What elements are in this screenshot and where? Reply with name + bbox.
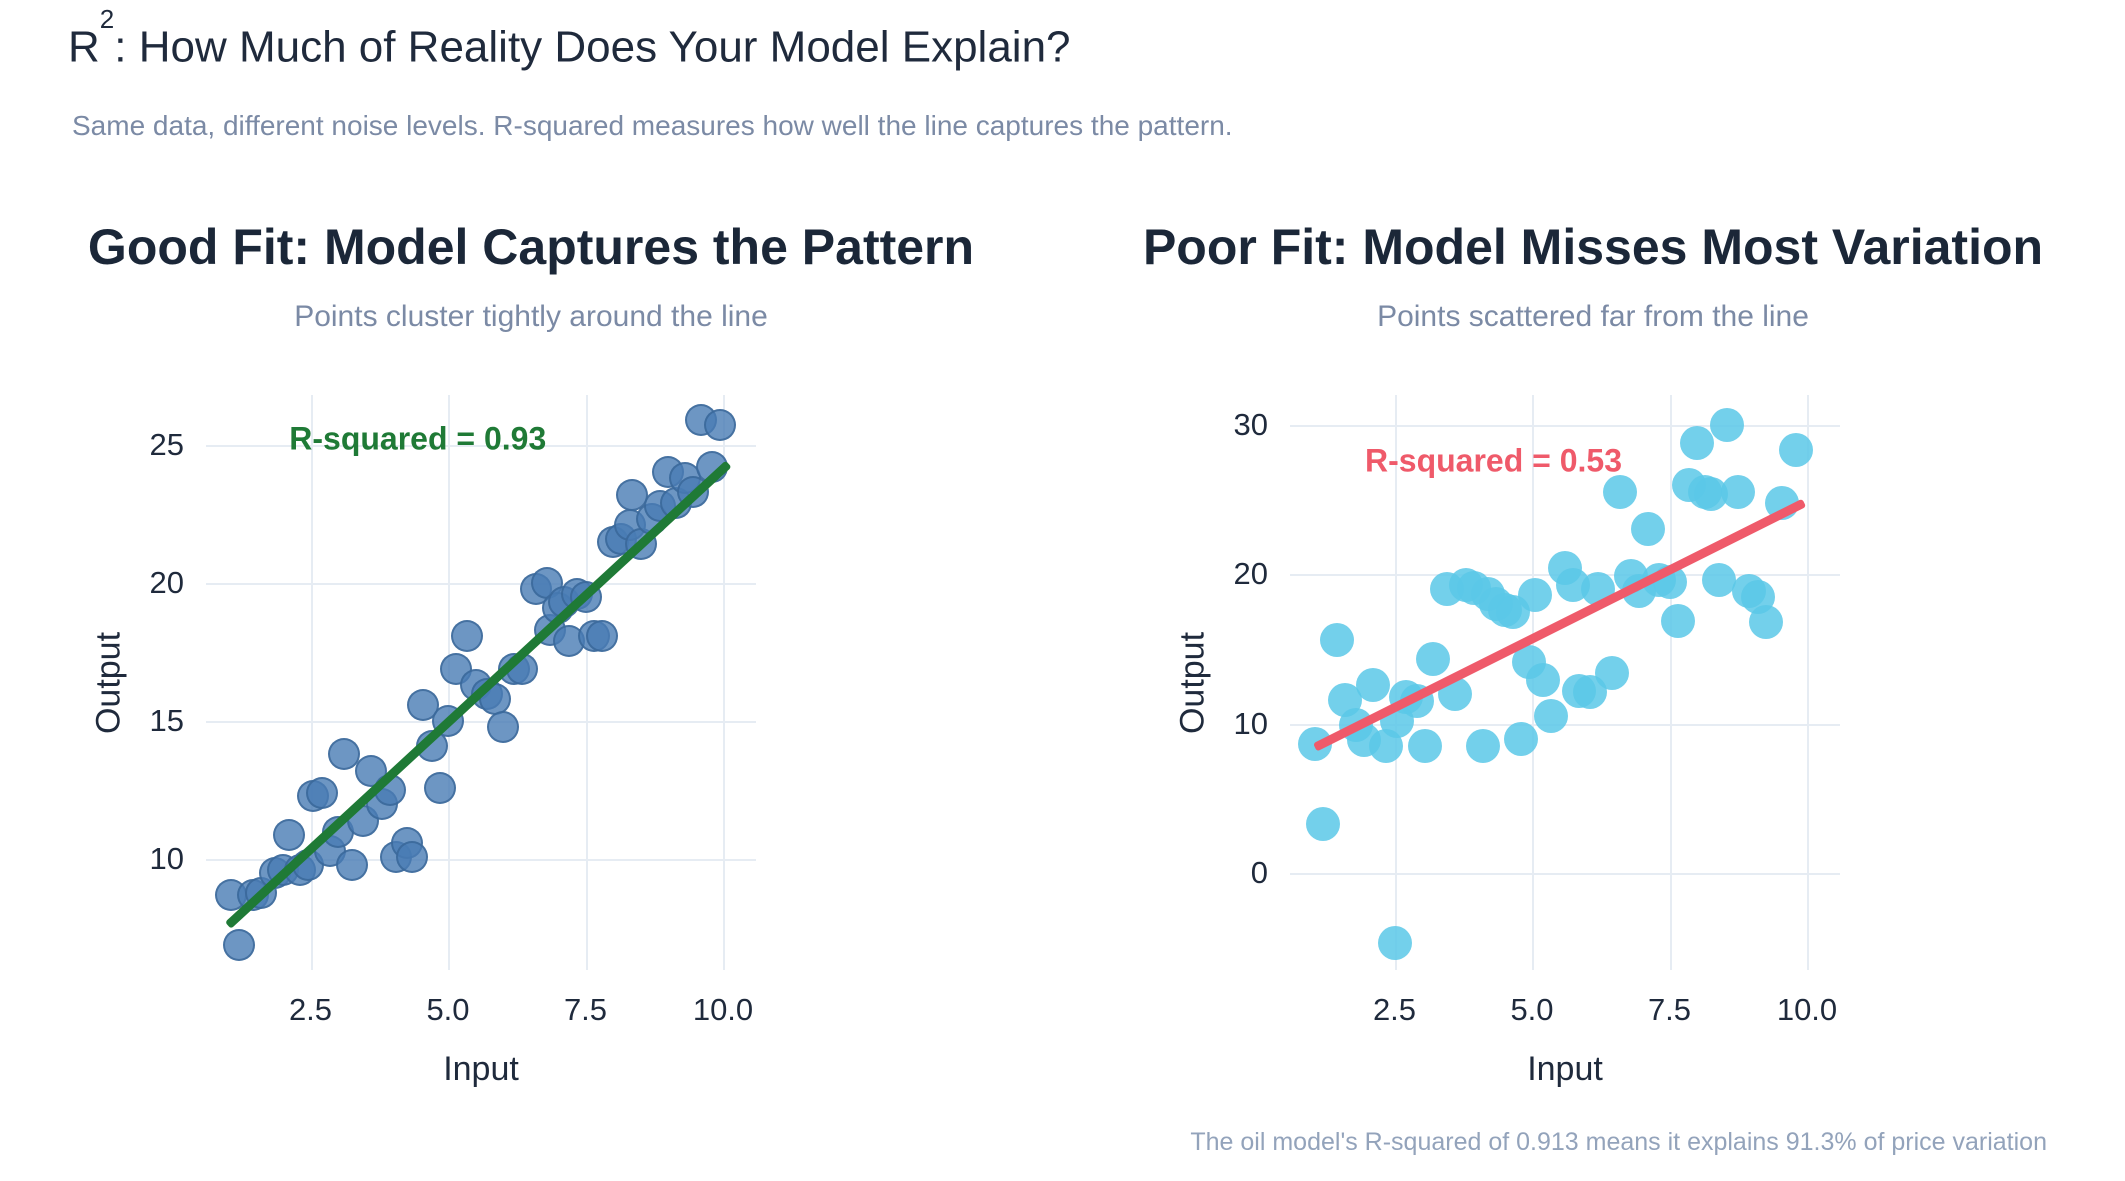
scatter-point xyxy=(704,409,736,441)
scatter-point xyxy=(1320,623,1354,657)
scatter-point xyxy=(1721,475,1755,509)
x-axis-tick-label: 7.5 xyxy=(564,992,607,1028)
scatter-point xyxy=(451,620,483,652)
scatter-point xyxy=(1518,578,1552,612)
panel-title-good-fit: Good Fit: Model Captures the Pattern xyxy=(0,222,1062,272)
scatter-point xyxy=(1680,426,1714,460)
x-axis-tick-label: 5.0 xyxy=(1510,992,1553,1028)
scatter-point xyxy=(1595,656,1629,690)
y-axis-tick-label: 15 xyxy=(150,703,184,739)
x-axis-tick-label: 5.0 xyxy=(426,992,469,1028)
scatter-point xyxy=(1356,668,1390,702)
chart-panel-poor-fit: Poor Fit: Model Misses Most Variation Po… xyxy=(1062,0,2124,1181)
r-squared-annotation: R-squared = 0.53 xyxy=(1365,442,1622,479)
footnote-caption: The oil model's R-squared of 0.913 means… xyxy=(1190,1128,2047,1157)
gridline-horizontal xyxy=(1290,873,1840,875)
x-axis-tick-label: 2.5 xyxy=(289,992,332,1028)
scatter-plot-good-fit: Output Input 101520252.55.07.510.0R-squa… xyxy=(206,395,756,970)
scatter-point xyxy=(487,711,519,743)
scatter-point xyxy=(1416,642,1450,676)
gridline-vertical xyxy=(723,395,725,970)
x-axis-tick-label: 10.0 xyxy=(1777,992,1837,1028)
x-axis-tick-label: 2.5 xyxy=(1373,992,1416,1028)
scatter-plot-poor-fit: Output Input 01020302.55.07.510.0R-squar… xyxy=(1290,395,1840,970)
scatter-point xyxy=(336,849,368,881)
gridline-horizontal xyxy=(206,583,756,585)
scatter-point xyxy=(1526,663,1560,697)
y-axis-tick-label: 25 xyxy=(150,427,184,463)
x-axis-title-poor-fit: Input xyxy=(1527,1050,1603,1089)
y-axis-title-good-fit: Output xyxy=(90,631,129,733)
scatter-point xyxy=(586,620,618,652)
y-axis-tick-label: 20 xyxy=(150,565,184,601)
x-axis-tick-label: 7.5 xyxy=(1648,992,1691,1028)
scatter-point xyxy=(1661,604,1695,638)
gridline-vertical xyxy=(586,395,588,970)
scatter-point xyxy=(1504,722,1538,756)
y-axis-tick-label: 20 xyxy=(1234,556,1268,592)
y-axis-tick-label: 10 xyxy=(1234,706,1268,742)
scatter-point xyxy=(273,819,305,851)
scatter-point xyxy=(1779,433,1813,467)
scatter-point xyxy=(1408,729,1442,763)
gridline-horizontal xyxy=(1290,425,1840,427)
scatter-point xyxy=(1603,475,1637,509)
scatter-point xyxy=(306,777,338,809)
scatter-point xyxy=(396,841,428,873)
y-axis-tick-label: 0 xyxy=(1251,855,1268,891)
scatter-point xyxy=(1631,512,1665,546)
scatter-point xyxy=(1710,408,1744,442)
y-axis-tick-label: 30 xyxy=(1234,407,1268,443)
panel-title-poor-fit: Poor Fit: Model Misses Most Variation xyxy=(1062,222,2124,272)
gridline-vertical xyxy=(311,395,313,970)
x-axis-title-good-fit: Input xyxy=(443,1050,519,1089)
scatter-point xyxy=(424,772,456,804)
scatter-point xyxy=(1306,807,1340,841)
scatter-point xyxy=(1378,926,1412,960)
scatter-point xyxy=(1534,699,1568,733)
panel-subtitle-poor-fit: Points scattered far from the line xyxy=(1062,300,2124,334)
panel-subtitle-good-fit: Points cluster tightly around the line xyxy=(0,300,1062,334)
scatter-point xyxy=(1702,563,1736,597)
gridline-horizontal xyxy=(206,721,756,723)
scatter-point xyxy=(1749,605,1783,639)
chart-panel-good-fit: Good Fit: Model Captures the Pattern Poi… xyxy=(0,0,1062,1181)
r-squared-annotation: R-squared = 0.93 xyxy=(289,421,546,458)
y-axis-title-poor-fit: Output xyxy=(1174,631,1213,733)
y-axis-tick-label: 10 xyxy=(150,841,184,877)
scatter-point xyxy=(1466,729,1500,763)
scatter-point xyxy=(223,929,255,961)
x-axis-tick-label: 10.0 xyxy=(693,992,753,1028)
gridline-vertical xyxy=(1807,395,1809,970)
